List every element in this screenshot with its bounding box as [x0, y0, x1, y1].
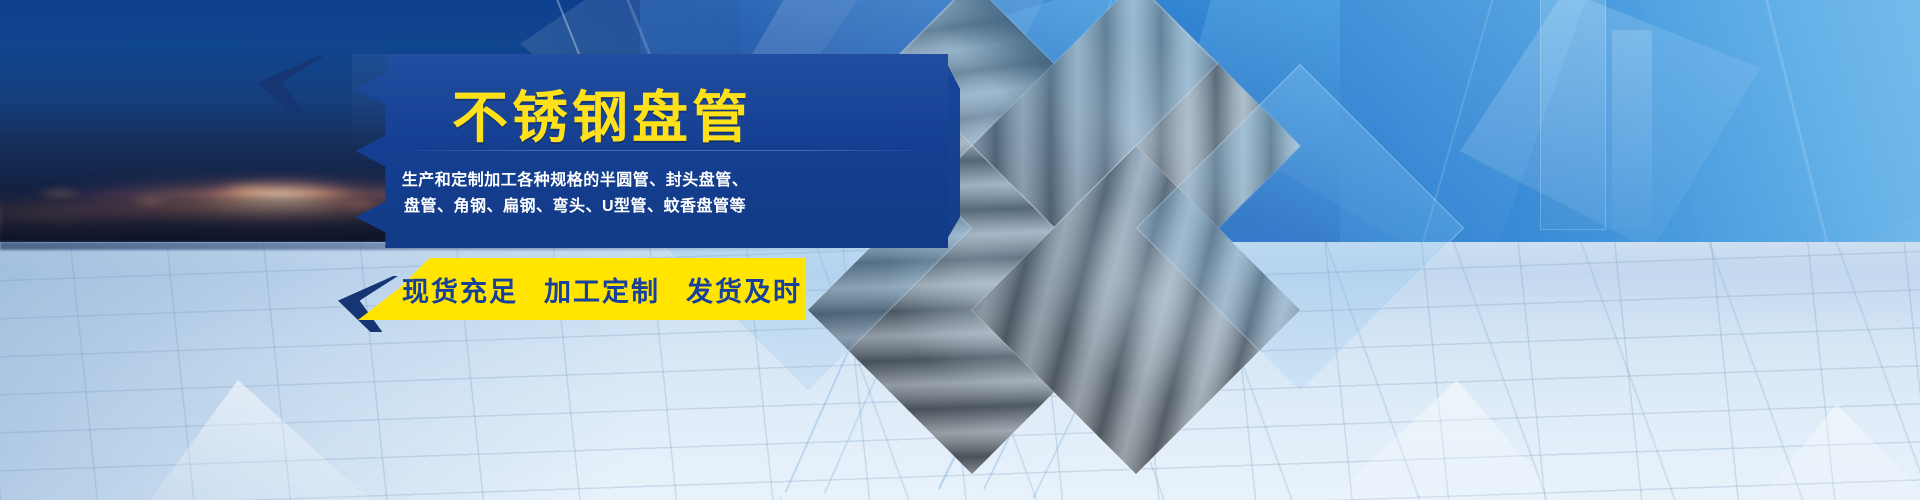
building-silhouette	[1540, 0, 1606, 230]
subtitle-line-2: 盘管、角钢、扁钢、弯头、U型管、蚊香盘管等	[400, 194, 750, 220]
ribbon-item-custom: 加工定制	[544, 270, 660, 309]
page-title: 不锈钢盘管	[452, 90, 752, 146]
text-plate-divider	[392, 150, 938, 151]
building-silhouette-secondary	[1612, 30, 1652, 230]
ribbon-item-shipping: 发货及时	[686, 270, 802, 309]
banner-subtitle: 生产和定制加工各种规格的半圆管、封头盘管、 盘管、角钢、扁钢、弯头、U型管、蚊香…	[400, 168, 750, 220]
ribbon-item-stock: 现货充足	[402, 270, 518, 309]
subtitle-line-1: 生产和定制加工各种规格的半圆管、封头盘管、	[400, 168, 750, 194]
product-hero-banner: 不锈钢盘管 生产和定制加工各种规格的半圆管、封头盘管、 盘管、角钢、扁钢、弯头、…	[0, 0, 1920, 500]
highlight-ribbon-text: 现货充足 加工定制 发货及时	[358, 258, 806, 320]
